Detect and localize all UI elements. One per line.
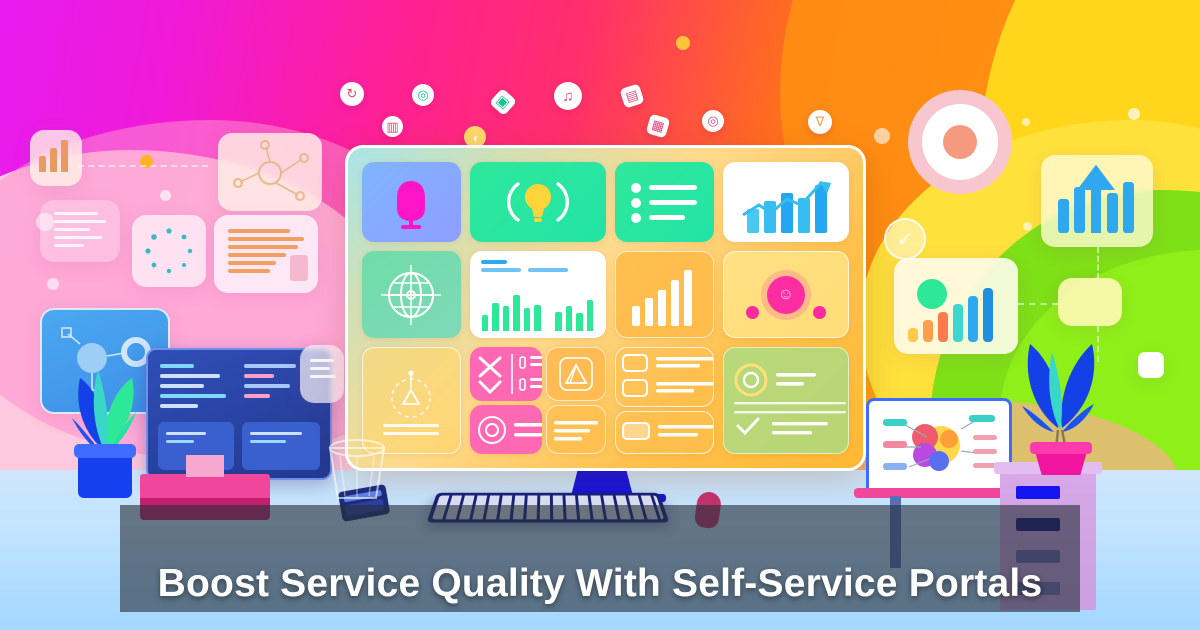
left-card-mini-bars: [30, 130, 82, 186]
plant-left: [50, 330, 160, 520]
decor-dot-r1: [874, 128, 890, 144]
tile-routing[interactable]: [470, 347, 542, 401]
list-cards-icon: [616, 348, 713, 406]
left-card-small-note: [300, 345, 344, 403]
bar-chart-up-icon: [1041, 155, 1153, 247]
tile-satisfaction[interactable]: ☺: [723, 251, 849, 338]
mindmap-icon: [869, 401, 1005, 489]
tile-routing-group: [470, 347, 606, 454]
right-card-small-square: [1138, 352, 1164, 378]
tile-growth[interactable]: [723, 162, 849, 242]
tile-notes[interactable]: [546, 405, 606, 454]
laptop-base: [854, 488, 1020, 498]
decor-dot-r5: [676, 36, 690, 50]
left-monitor-foot: [186, 455, 224, 477]
ascending-bars-icon: [626, 262, 702, 328]
tile-feedback[interactable]: [470, 405, 542, 454]
decor-dot-1: [36, 213, 54, 231]
tile-alerts[interactable]: [546, 347, 606, 401]
floating-icon-chat[interactable]: ▥: [382, 116, 403, 137]
floating-icon-ring[interactable]: ◎: [412, 84, 434, 106]
tile-analytics[interactable]: [470, 251, 606, 338]
left-card-orange-doc: [214, 215, 318, 293]
monitor-screen: ☺: [345, 145, 866, 471]
left-card-loader: [132, 215, 206, 287]
check-circle-icon: [470, 410, 542, 450]
right-gauge-donut: [908, 90, 1012, 194]
right-check-circle: ✓: [884, 218, 926, 260]
decor-dot-r4: [1023, 222, 1032, 231]
tile-queue-group: [615, 347, 714, 454]
text-lines-icon: [548, 412, 604, 448]
bullet-list-icon: [622, 174, 706, 230]
floating-icon-music[interactable]: ♫: [554, 82, 582, 110]
shuffle-icon: [470, 348, 542, 400]
left-card-network: [218, 133, 322, 211]
list-card-icon: [616, 415, 713, 451]
tile-microphone[interactable]: [362, 162, 461, 242]
left-card-text-doc: [40, 200, 120, 262]
decor-dot-3: [160, 190, 171, 201]
tile-tickets[interactable]: [615, 162, 714, 242]
page-title: Boost Service Quality With Self-Service …: [120, 531, 1080, 630]
decor-dot-r2: [1128, 108, 1140, 120]
right-card-blue-bars: [1041, 155, 1153, 247]
poster-canvas: ↻ ◎ ▣ ♫ ▤ ▥ ◖ ▦ ◎ ∇ ✓: [0, 0, 1200, 630]
tile-volume[interactable]: [615, 251, 714, 338]
potted-plant-icon: [1000, 300, 1120, 475]
decor-dash-right-v: [1097, 247, 1099, 279]
floating-icon-funnel[interactable]: ∇: [808, 110, 832, 134]
laptop-mindmap: [866, 398, 1012, 496]
floating-icon-target[interactable]: ◎: [702, 110, 724, 132]
tile-queue[interactable]: [615, 347, 714, 407]
decor-dot-4: [47, 278, 59, 290]
decor-dot-r3: [1022, 118, 1030, 126]
network-nodes-icon: [218, 133, 322, 211]
analytics-bars: [480, 283, 596, 331]
tile-queue-2[interactable]: [615, 411, 714, 454]
loading-ring-icon: [132, 215, 206, 287]
dashboard-grid: ☺: [362, 162, 849, 454]
decor-dash-left: [78, 165, 208, 167]
floating-icon-reload[interactable]: ↻: [340, 82, 364, 106]
lightbulb-icon: [492, 172, 584, 232]
resolved-card-icon: [724, 358, 848, 444]
tile-knowledge[interactable]: [470, 162, 606, 242]
potted-plant-icon: [50, 330, 160, 520]
tile-global[interactable]: [362, 251, 461, 338]
microphone-icon: [385, 173, 437, 231]
tile-resolved[interactable]: [723, 347, 849, 454]
alert-triangle-icon: [554, 352, 598, 396]
basket-outline: [318, 428, 396, 504]
globe-icon: [374, 258, 448, 332]
plant-right: [1000, 300, 1120, 475]
trend-up-chart-icon: [723, 165, 849, 239]
gauge-icon: [378, 366, 444, 420]
